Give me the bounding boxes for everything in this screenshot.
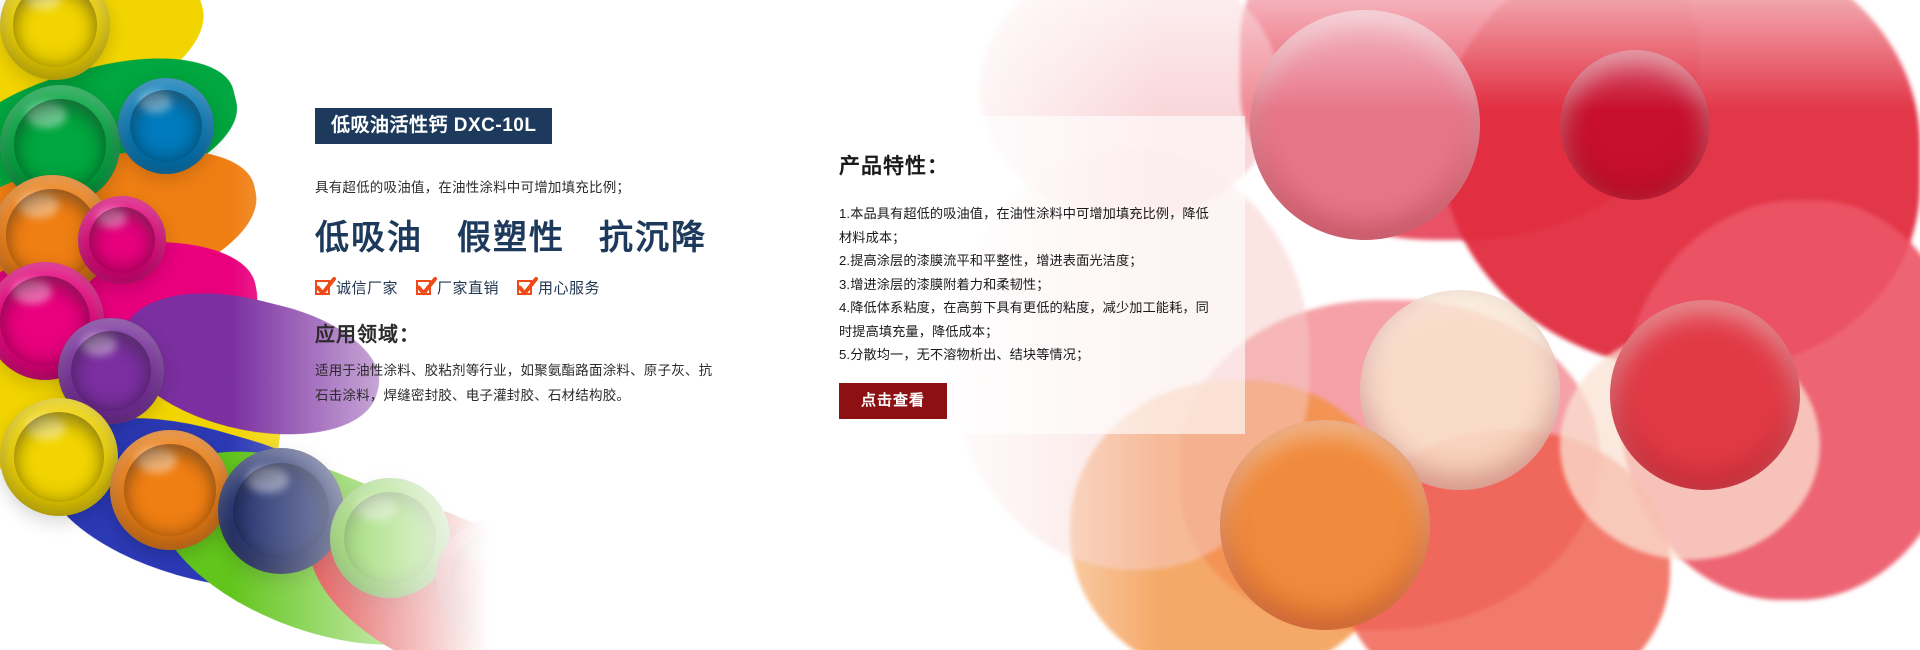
product-subline: 具有超低的吸油值，在油性涂料中可增加填充比例； [315,176,735,196]
trust-badge-list: 诚信厂家 厂家直销 用心服务 [315,277,735,298]
trust-badge-label: 诚信厂家 [336,277,398,298]
feature-item: 3.增进涂层的漆膜附着力和柔韧性； [839,273,1211,297]
product-title-badge: 低吸油活性钙 DXC-10L [315,108,552,144]
features-list: 1.本品具有超低的吸油值，在油性涂料中可增加填充比例，降低材料成本； 2.提高涂… [839,202,1211,367]
features-panel-title: 产品特性： [839,150,1211,180]
product-features-panel: 产品特性： 1.本品具有超低的吸油值，在油性涂料中可增加填充比例，降低材料成本；… [805,116,1245,434]
feature-item: 5.分散均一，无不溶物析出、结块等情况； [839,343,1211,367]
feature-item: 4.降低体系粘度，在高剪下具有更低的粘度，减少加工能耗，同时提高填充量，降低成本… [839,296,1211,343]
left-content-block: 低吸油活性钙 DXC-10L 具有超低的吸油值，在油性涂料中可增加填充比例； 低… [315,108,735,409]
trust-badge: 厂家直销 [416,277,499,298]
trust-badge: 用心服务 [517,277,600,298]
check-icon [315,280,330,295]
application-section-body: 适用于油性涂料、胶粘剂等行业，如聚氨酯路面涂料、原子灰、抗石击涂料，焊缝密封胶、… [315,359,715,409]
keyword-list: 低吸油 假塑性 抗沉降 [315,210,735,259]
application-section-title: 应用领域： [315,318,735,347]
keyword-item: 抗沉降 [599,210,707,259]
check-icon [416,280,431,295]
keyword-item: 低吸油 [315,210,423,259]
trust-badge-label: 厂家直销 [437,277,499,298]
trust-badge-label: 用心服务 [538,277,600,298]
feature-item: 2.提高涂层的漆膜流平和平整性，增进表面光洁度； [839,249,1211,273]
feature-item: 1.本品具有超低的吸油值，在油性涂料中可增加填充比例，降低材料成本； [839,202,1211,249]
trust-badge: 诚信厂家 [315,277,398,298]
check-icon [517,280,532,295]
keyword-item: 假塑性 [457,210,565,259]
product-banner: 低吸油活性钙 DXC-10L 具有超低的吸油值，在油性涂料中可增加填充比例； 低… [0,0,1920,650]
view-details-button[interactable]: 点击查看 [839,383,947,419]
